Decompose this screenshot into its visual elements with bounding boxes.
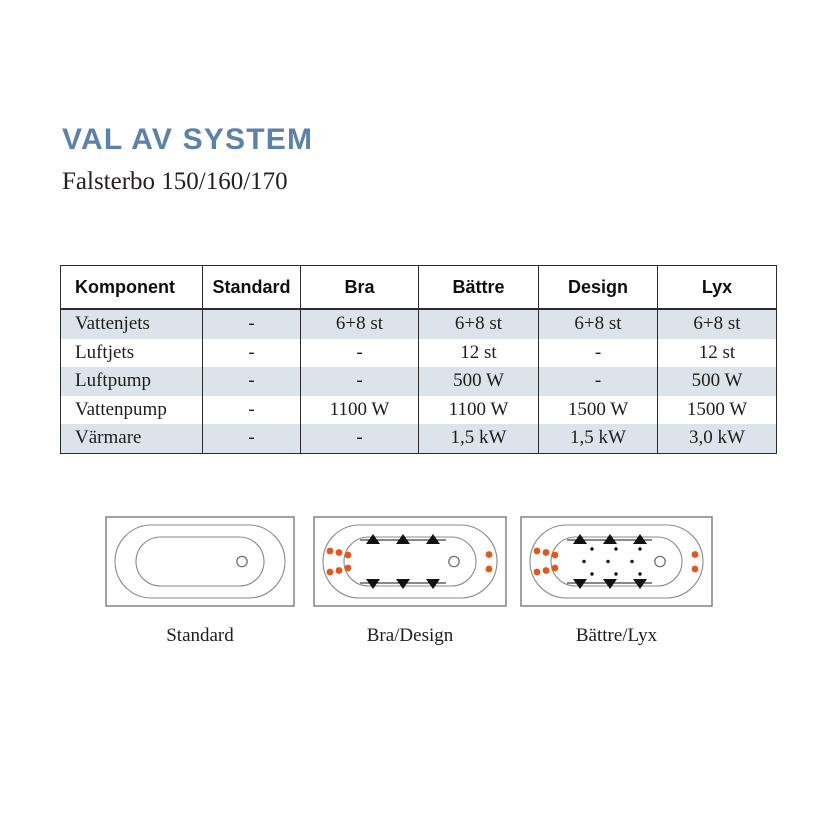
cell-battre: 500 W: [419, 367, 539, 396]
tub-figure-standard: Standard: [105, 516, 295, 645]
tub-caption-standard: Standard: [105, 626, 295, 645]
page-title: VAL AV SYSTEM: [62, 124, 762, 156]
cell-bra: 1100 W: [301, 396, 419, 425]
system-comparison-table: Komponent Standard Bra Bättre Design Lyx…: [60, 265, 777, 454]
cell-battre: 6+8 st: [419, 309, 539, 339]
column-header-battre: Bättre: [419, 266, 539, 310]
cell-design: 1500 W: [539, 396, 658, 425]
spec-table-container: Komponent Standard Bra Bättre Design Lyx…: [60, 265, 776, 454]
bathtub-diagram-standard-icon: [105, 516, 295, 607]
table-row: Vattenjets - 6+8 st 6+8 st 6+8 st 6+8 st: [61, 309, 777, 339]
column-header-bra: Bra: [301, 266, 419, 310]
column-header-design: Design: [539, 266, 658, 310]
cell-lyx: 6+8 st: [658, 309, 777, 339]
column-header-standard: Standard: [203, 266, 301, 310]
page-subtitle: Falsterbo 150/160/170: [62, 168, 762, 196]
tub-figure-bra-design: Bra/Design: [313, 516, 507, 645]
column-header-lyx: Lyx: [658, 266, 777, 310]
tub-diagrams-row: Standard: [0, 516, 828, 646]
cell-lyx: 12 st: [658, 339, 777, 368]
cell-component: Vattenjets: [61, 309, 203, 339]
cell-bra: -: [301, 339, 419, 368]
column-header-komponent: Komponent: [61, 266, 203, 310]
cell-component: Luftjets: [61, 339, 203, 368]
cell-standard: -: [203, 424, 301, 453]
bathtub-diagram-battre-lyx-icon: [520, 516, 713, 607]
cell-standard: -: [203, 339, 301, 368]
cell-standard: -: [203, 309, 301, 339]
cell-bra: -: [301, 367, 419, 396]
table-row: Värmare - - 1,5 kW 1,5 kW 3,0 kW: [61, 424, 777, 453]
cell-battre: 1100 W: [419, 396, 539, 425]
cell-design: -: [539, 339, 658, 368]
cell-component: Värmare: [61, 424, 203, 453]
cell-design: 1,5 kW: [539, 424, 658, 453]
cell-bra: -: [301, 424, 419, 453]
tub-figure-battre-lyx: Bättre/Lyx: [520, 516, 713, 645]
cell-design: -: [539, 367, 658, 396]
cell-lyx: 1500 W: [658, 396, 777, 425]
table-row: Vattenpump - 1100 W 1100 W 1500 W 1500 W: [61, 396, 777, 425]
cell-standard: -: [203, 367, 301, 396]
bathtub-diagram-bra-design-icon: [313, 516, 507, 607]
cell-component: Vattenpump: [61, 396, 203, 425]
cell-lyx: 500 W: [658, 367, 777, 396]
cell-lyx: 3,0 kW: [658, 424, 777, 453]
tub-caption-bra-design: Bra/Design: [313, 626, 507, 645]
heading-block: VAL AV SYSTEM Falsterbo 150/160/170: [62, 124, 762, 196]
cell-battre: 12 st: [419, 339, 539, 368]
cell-standard: -: [203, 396, 301, 425]
table-row: Luftjets - - 12 st - 12 st: [61, 339, 777, 368]
cell-battre: 1,5 kW: [419, 424, 539, 453]
cell-bra: 6+8 st: [301, 309, 419, 339]
cell-design: 6+8 st: [539, 309, 658, 339]
table-row: Luftpump - - 500 W - 500 W: [61, 367, 777, 396]
table-header-row: Komponent Standard Bra Bättre Design Lyx: [61, 266, 777, 310]
cell-component: Luftpump: [61, 367, 203, 396]
tub-caption-battre-lyx: Bättre/Lyx: [520, 626, 713, 645]
